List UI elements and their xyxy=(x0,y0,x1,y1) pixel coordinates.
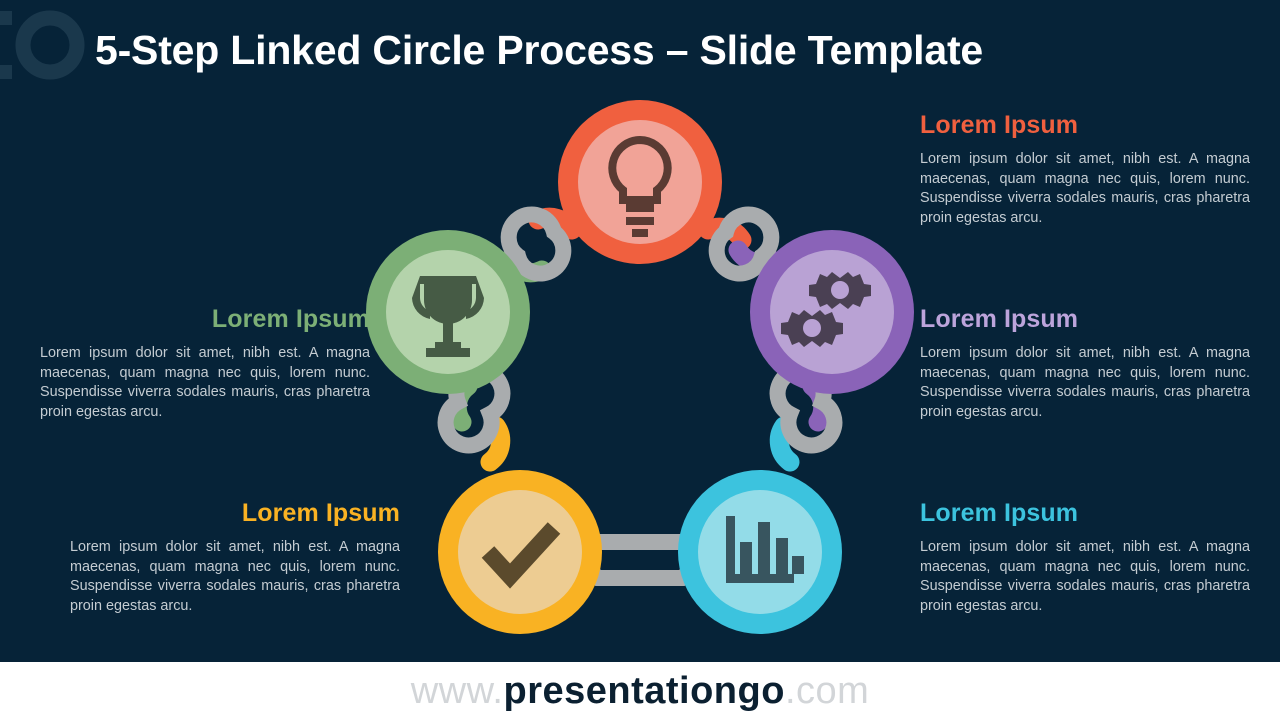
step-body: Lorem ipsum dolor sit amet, nibh est. A … xyxy=(920,538,1250,616)
step-heading: Lorem Ipsum xyxy=(40,304,370,334)
step-text-block-mid-right: Lorem Ipsum Lorem ipsum dolor sit amet, … xyxy=(920,304,1250,422)
step-node-trophy[interactable] xyxy=(366,230,530,394)
step-text-block-bottom-right: Lorem Ipsum Lorem ipsum dolor sit amet, … xyxy=(920,498,1250,616)
process-diagram xyxy=(340,80,940,650)
step-node-lightbulb[interactable] xyxy=(558,100,722,264)
step-body: Lorem ipsum dolor sit amet, nibh est. A … xyxy=(40,344,370,422)
step-text-block-bottom-left: Lorem Ipsum Lorem ipsum dolor sit amet, … xyxy=(70,498,400,616)
slide-canvas: 5-Step Linked Circle Process – Slide Tem… xyxy=(0,0,1280,720)
step-node-bar-chart[interactable] xyxy=(678,470,842,634)
footer-url-brand: presentationgo xyxy=(503,670,784,712)
step-heading: Lorem Ipsum xyxy=(920,110,1250,140)
step-text-block-mid-left: Lorem Ipsum Lorem ipsum dolor sit amet, … xyxy=(40,304,370,422)
step-heading: Lorem Ipsum xyxy=(920,498,1250,528)
footer-url-suffix: .com xyxy=(785,670,869,712)
step-text-block-top-right: Lorem Ipsum Lorem ipsum dolor sit amet, … xyxy=(920,110,1250,228)
step-body: Lorem ipsum dolor sit amet, nibh est. A … xyxy=(70,538,400,616)
slide-title: 5-Step Linked Circle Process – Slide Tem… xyxy=(95,20,1205,80)
step-body: Lorem ipsum dolor sit amet, nibh est. A … xyxy=(920,150,1250,228)
step-node-checkmark[interactable] xyxy=(438,470,602,634)
connector-green-red xyxy=(508,215,572,274)
footer-bar: www.presentationgo.com xyxy=(0,662,1280,720)
step-body: Lorem ipsum dolor sit amet, nibh est. A … xyxy=(920,344,1250,422)
connector-red-purple xyxy=(708,215,772,274)
footer-url[interactable]: www.presentationgo.com xyxy=(411,669,870,713)
step-node-gears[interactable] xyxy=(750,230,914,394)
footer-url-prefix: www. xyxy=(411,670,504,712)
watermark-logo-icon xyxy=(0,2,90,88)
step-heading: Lorem Ipsum xyxy=(920,304,1250,334)
step-heading: Lorem Ipsum xyxy=(70,498,400,528)
